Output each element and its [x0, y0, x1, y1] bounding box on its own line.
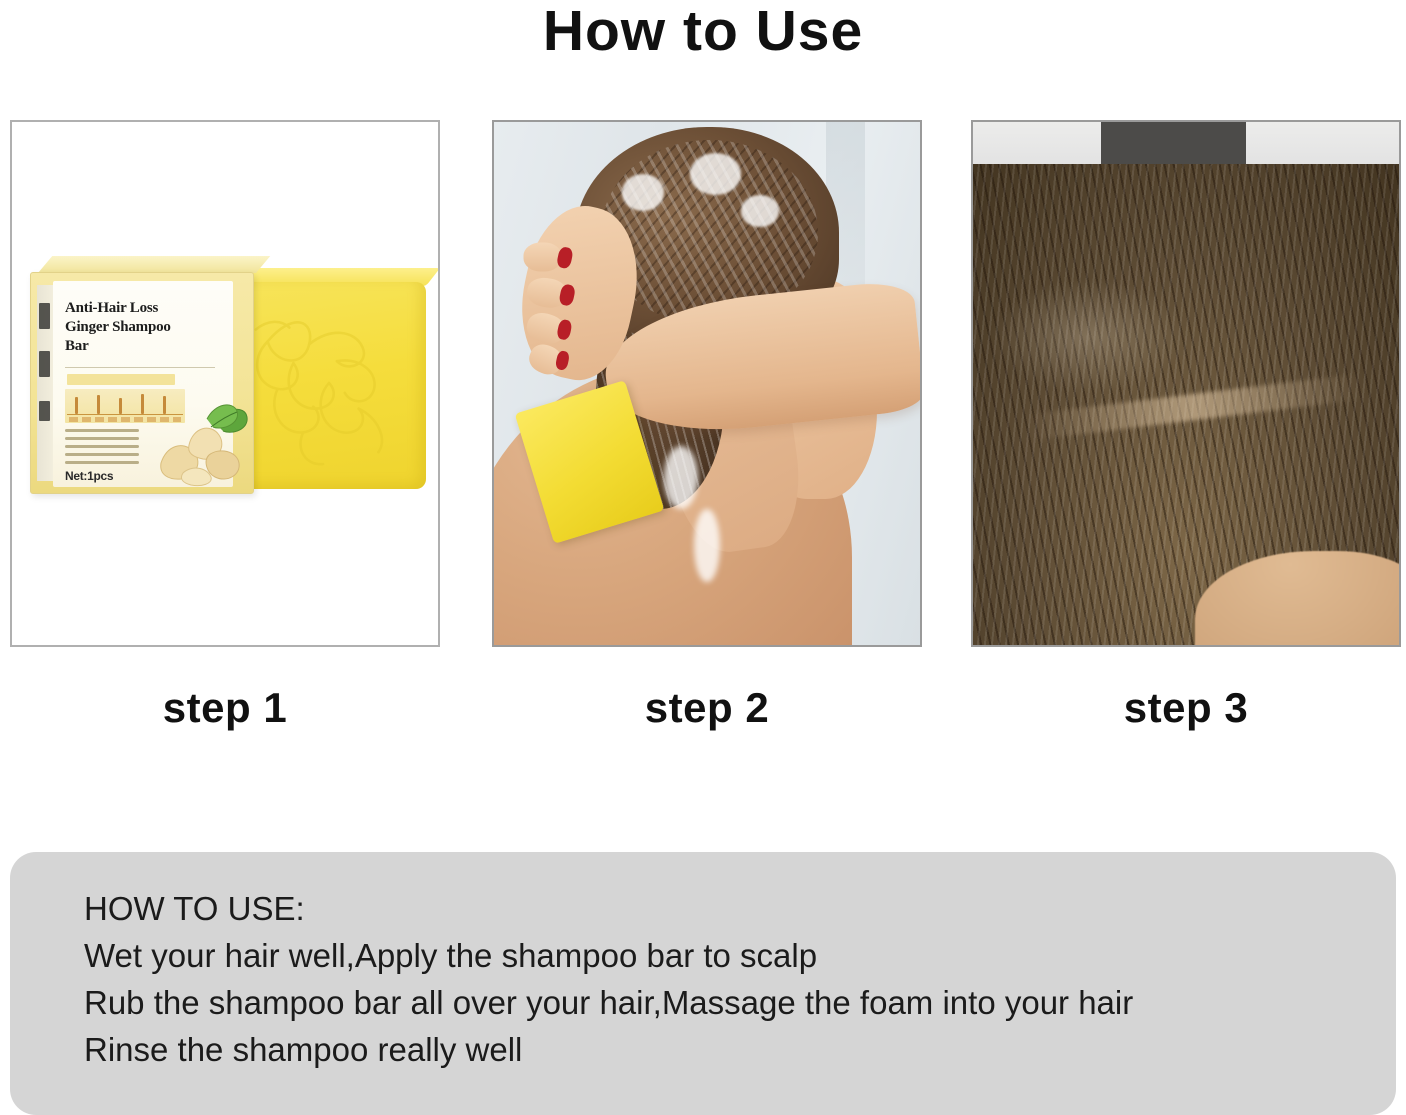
- step-3: step 3: [971, 120, 1401, 732]
- how-to-use-text: HOW TO USE: Wet your hair well,Apply the…: [84, 885, 1374, 1073]
- package-benefit-list: [65, 429, 139, 469]
- how-to-use-box: HOW TO USE: Wet your hair well,Apply the…: [10, 852, 1396, 1115]
- package-title-line-1: Anti-Hair Loss: [65, 299, 217, 318]
- foam-blob: [694, 509, 720, 582]
- package-title-line-2: Ginger Shampoo: [65, 318, 217, 337]
- foam-blob: [622, 174, 665, 211]
- step-2-label: step 2: [492, 684, 922, 732]
- step-2-image-frame: [492, 120, 922, 647]
- how-to-use-line-1: Wet your hair well,Apply the shampoo bar…: [84, 932, 1374, 979]
- ginger-emboss-pattern: [238, 290, 416, 478]
- package-highlight-chip: [67, 374, 175, 385]
- how-to-use-heading: HOW TO USE:: [84, 885, 1374, 932]
- step-2: step 2: [492, 120, 922, 732]
- step-3-image-frame: [971, 120, 1401, 647]
- package-net-weight: Net:1pcs: [65, 469, 113, 483]
- package-top-face: [38, 256, 270, 273]
- package-title-line-3: Bar: [65, 337, 217, 356]
- page-title: How to Use: [0, 0, 1406, 62]
- shampoo-bar: [230, 282, 426, 489]
- package-spine: [37, 285, 53, 481]
- how-to-use-line-2: Rub the shampoo bar all over your hair,M…: [84, 979, 1374, 1026]
- steps-row: Anti-Hair Loss Ginger Shampoo Bar: [0, 120, 1406, 740]
- step-1-label: step 1: [10, 684, 440, 732]
- hair-highlight: [990, 279, 1186, 394]
- scalp-closeup-photo: [973, 122, 1399, 645]
- package-divider: [65, 367, 215, 368]
- foam-blob: [690, 153, 741, 195]
- product-photo: Anti-Hair Loss Ginger Shampoo Bar: [12, 122, 438, 645]
- how-to-use-infographic: How to Use: [0, 0, 1406, 1115]
- package-title: Anti-Hair Loss Ginger Shampoo Bar: [65, 299, 217, 356]
- step-1-image-frame: Anti-Hair Loss Ginger Shampoo Bar: [10, 120, 440, 647]
- foam-blob: [741, 195, 779, 226]
- product-package: Anti-Hair Loss Ginger Shampoo Bar: [30, 272, 254, 494]
- how-to-use-line-3: Rinse the shampoo really well: [84, 1026, 1374, 1073]
- ginger-root-illustration: [153, 401, 249, 487]
- step-1: Anti-Hair Loss Ginger Shampoo Bar: [10, 120, 440, 732]
- shampooing-photo: [494, 122, 920, 645]
- step-3-label: step 3: [971, 684, 1401, 732]
